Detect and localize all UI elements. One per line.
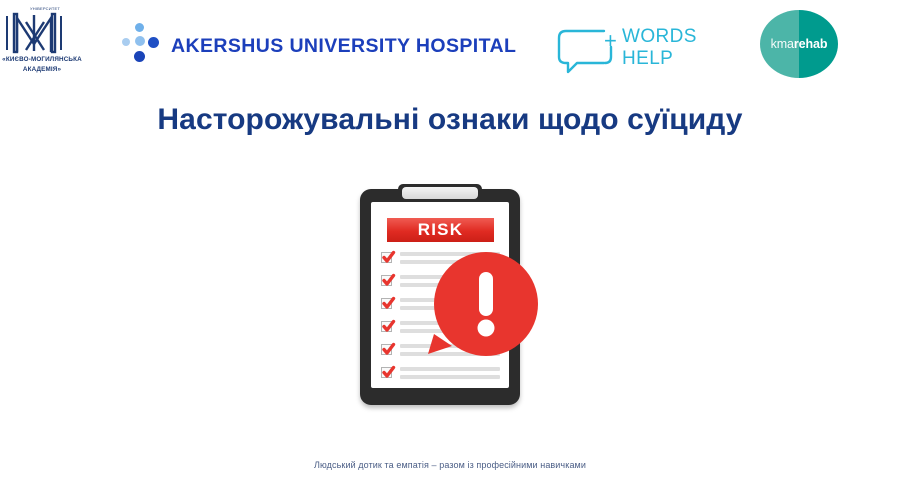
logo-akershus: AKERSHUS UNIVERSITY HOSPITAL [120, 22, 516, 70]
naukma-name-line1: «КИЄВО-МОГИЛЯНСЬКА [0, 55, 88, 64]
checkbox-checked-icon [381, 275, 392, 286]
checkbox-checked-icon [381, 298, 392, 309]
kmarehab-wordmark: kmarehab [760, 10, 838, 78]
slide-title: Насторожувальні ознаки щодо суїциду [0, 103, 900, 137]
alert-exclamation-icon [426, 250, 542, 366]
words-help-plus: + [604, 30, 617, 52]
risk-clipboard-illustration: RISK [360, 183, 542, 405]
checkbox-checked-icon [381, 321, 392, 332]
kmarehab-text-kma: kma [771, 37, 794, 51]
words-help-line2: HELP [622, 48, 697, 70]
text-line [400, 367, 500, 371]
logo-naukma: УНІВЕРСИТЕТ «КИЄВО-МОГИЛЯНС [0, 6, 88, 82]
akershus-wordmark: AKERSHUS UNIVERSITY HOSPITAL [171, 35, 516, 58]
logo-kmarehab: kmarehab [760, 10, 840, 78]
naukma-name-line2: АКАДЕМІЯ» [0, 65, 88, 74]
words-help-line1: WORDS [622, 26, 697, 48]
checkbox-checked-icon [381, 252, 392, 263]
risk-banner-label: RISK [418, 220, 463, 240]
naukma-monogram-icon [0, 12, 86, 54]
text-line [400, 375, 500, 379]
logo-bar: УНІВЕРСИТЕТ «КИЄВО-МОГИЛЯНС [0, 0, 900, 90]
checkbox-checked-icon [381, 344, 392, 355]
slide-footer: Людський дотик та емпатія – разом із про… [0, 460, 900, 470]
checkbox-checked-icon [381, 367, 392, 378]
checklist-row [381, 365, 503, 388]
clipboard-clip-bar [402, 187, 478, 199]
kmarehab-text-rehab: rehab [794, 37, 828, 51]
akershus-dots-icon [120, 23, 166, 69]
words-help-wordmark: WORDS HELP [622, 26, 697, 70]
logo-words-help: + WORDS HELP [556, 24, 696, 76]
slide-canvas: УНІВЕРСИТЕТ «КИЄВО-МОГИЛЯНС [0, 0, 900, 497]
risk-banner: RISK [387, 218, 494, 242]
